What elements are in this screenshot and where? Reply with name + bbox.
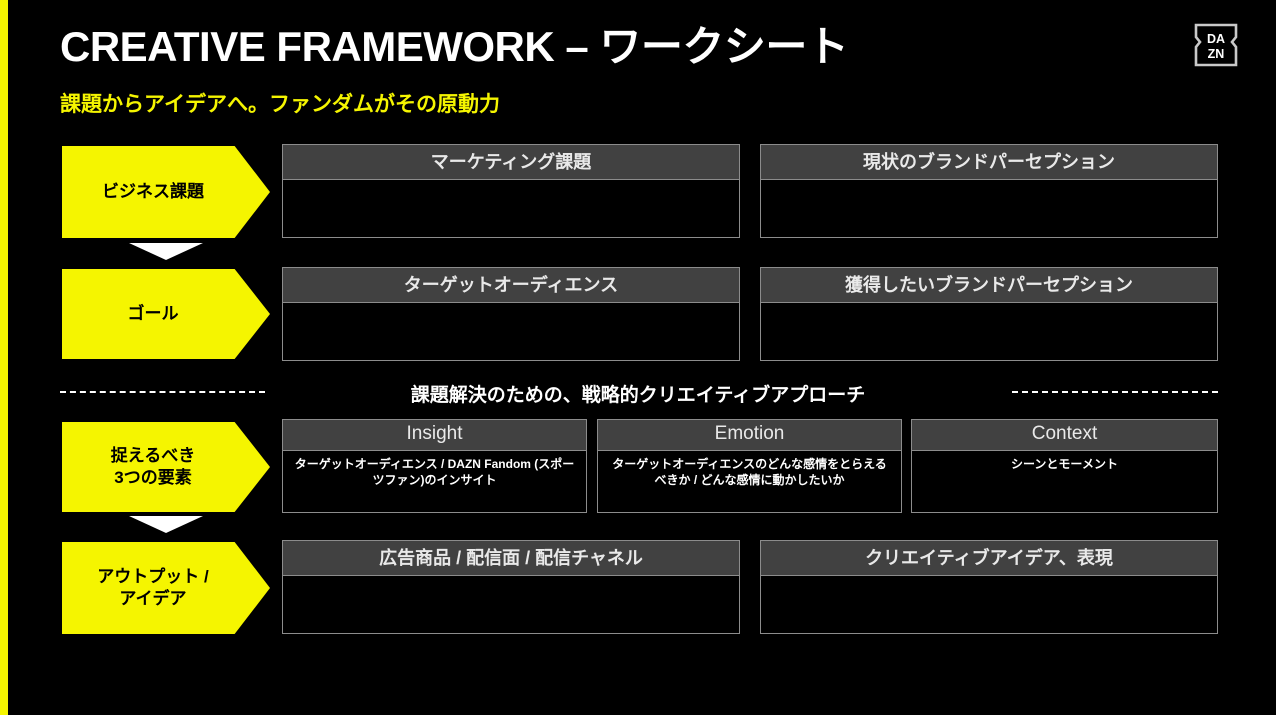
box-creative-idea-expression[interactable]: クリエイティブアイデア、表現 xyxy=(760,540,1218,634)
stage-three-elements[interactable]: 捉えるべき3つの要素 xyxy=(62,422,270,512)
box-marketing-challenge[interactable]: マーケティング課題 xyxy=(282,144,740,238)
box-ad-product-channel[interactable]: 広告商品 / 配信面 / 配信チャネル xyxy=(282,540,740,634)
page-subtitle: 課題からアイデアへ。ファンダムがその原動力 xyxy=(60,88,500,118)
box-title: ターゲットオーディエンス xyxy=(283,268,739,303)
divider-label: 課題解決のための、戦略的クリエイティブアプローチ xyxy=(0,380,1276,407)
dazn-logo-icon: DA ZN xyxy=(1193,22,1239,68)
box-target-audience[interactable]: ターゲットオーディエンス xyxy=(282,267,740,361)
box-body[interactable] xyxy=(283,180,739,237)
box-body[interactable] xyxy=(283,303,739,360)
box-body[interactable]: ターゲットオーディエンス / DAZN Fandom (スポーツファン)のインサ… xyxy=(283,451,586,512)
down-arrow-icon-1 xyxy=(129,243,203,260)
box-title: クリエイティブアイデア、表現 xyxy=(761,541,1217,576)
box-emotion[interactable]: Emotion ターゲットオーディエンスのどんな感情をとらえるべきか / どんな… xyxy=(597,419,902,513)
box-current-brand-perception[interactable]: 現状のブランドパーセプション xyxy=(760,144,1218,238)
box-title: 現状のブランドパーセプション xyxy=(761,145,1217,180)
stage-output-idea[interactable]: アウトプット /アイデア xyxy=(62,542,270,634)
box-title: 広告商品 / 配信面 / 配信チャネル xyxy=(283,541,739,576)
box-title: Insight xyxy=(283,420,586,451)
box-body[interactable]: シーンとモーメント xyxy=(912,451,1217,512)
stage-label: 捉えるべき3つの要素 xyxy=(111,445,196,490)
svg-text:ZN: ZN xyxy=(1208,47,1225,61)
stage-label: ゴール xyxy=(128,303,179,325)
page-title: CREATIVE FRAMEWORK – ワークシート xyxy=(60,24,848,70)
box-context[interactable]: Context シーンとモーメント xyxy=(911,419,1218,513)
box-body[interactable] xyxy=(283,576,739,633)
svg-text:DA: DA xyxy=(1207,32,1225,46)
left-accent-bar xyxy=(0,0,8,715)
box-body[interactable] xyxy=(761,303,1217,360)
box-body[interactable] xyxy=(761,576,1217,633)
stage-goal[interactable]: ゴール xyxy=(62,269,270,359)
box-title: Context xyxy=(912,420,1217,451)
divider-dash-right xyxy=(1012,391,1218,393)
box-insight[interactable]: Insight ターゲットオーディエンス / DAZN Fandom (スポーツ… xyxy=(282,419,587,513)
stage-label: アウトプット /アイデア xyxy=(97,566,208,611)
box-title: Emotion xyxy=(598,420,901,451)
stage-label: ビジネス課題 xyxy=(102,181,204,203)
stage-business-challenge[interactable]: ビジネス課題 xyxy=(62,146,270,238)
down-arrow-icon-2 xyxy=(129,516,203,533)
box-title: 獲得したいブランドパーセプション xyxy=(761,268,1217,303)
box-desired-brand-perception[interactable]: 獲得したいブランドパーセプション xyxy=(760,267,1218,361)
box-title: マーケティング課題 xyxy=(283,145,739,180)
slide-canvas: CREATIVE FRAMEWORK – ワークシート 課題からアイデアへ。ファ… xyxy=(0,0,1276,715)
box-body[interactable] xyxy=(761,180,1217,237)
box-body[interactable]: ターゲットオーディエンスのどんな感情をとらえるべきか / どんな感情に動かしたい… xyxy=(598,451,901,512)
